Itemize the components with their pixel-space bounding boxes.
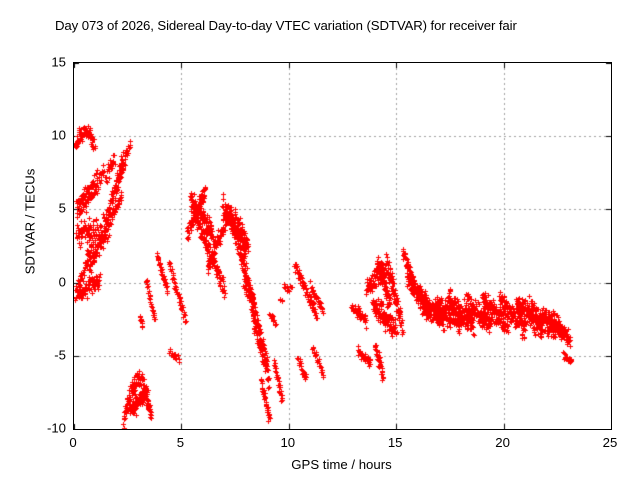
y-tick-label: -5	[6, 347, 66, 362]
x-tick-label: 0	[53, 435, 93, 450]
x-tick-label: 20	[483, 435, 523, 450]
x-tick-label: 15	[375, 435, 415, 450]
x-tick-label: 10	[268, 435, 308, 450]
scatter-canvas	[74, 63, 611, 429]
x-tick-label: 5	[160, 435, 200, 450]
page-title: Day 073 of 2026, Sidereal Day-to-day VTE…	[55, 18, 640, 33]
y-tick-label: -10	[6, 421, 66, 436]
x-axis-title: GPS time / hours	[73, 457, 610, 472]
x-tick-label: 25	[590, 435, 630, 450]
x-axis-ticks: 0 5 10 15 20 25	[73, 435, 610, 455]
y-axis-title: SDTVAR / TECUs	[23, 122, 38, 322]
y-tick-label: 15	[6, 55, 66, 70]
plot-page: Day 073 of 2026, Sidereal Day-to-day VTE…	[0, 0, 640, 480]
plot-area	[73, 62, 612, 430]
